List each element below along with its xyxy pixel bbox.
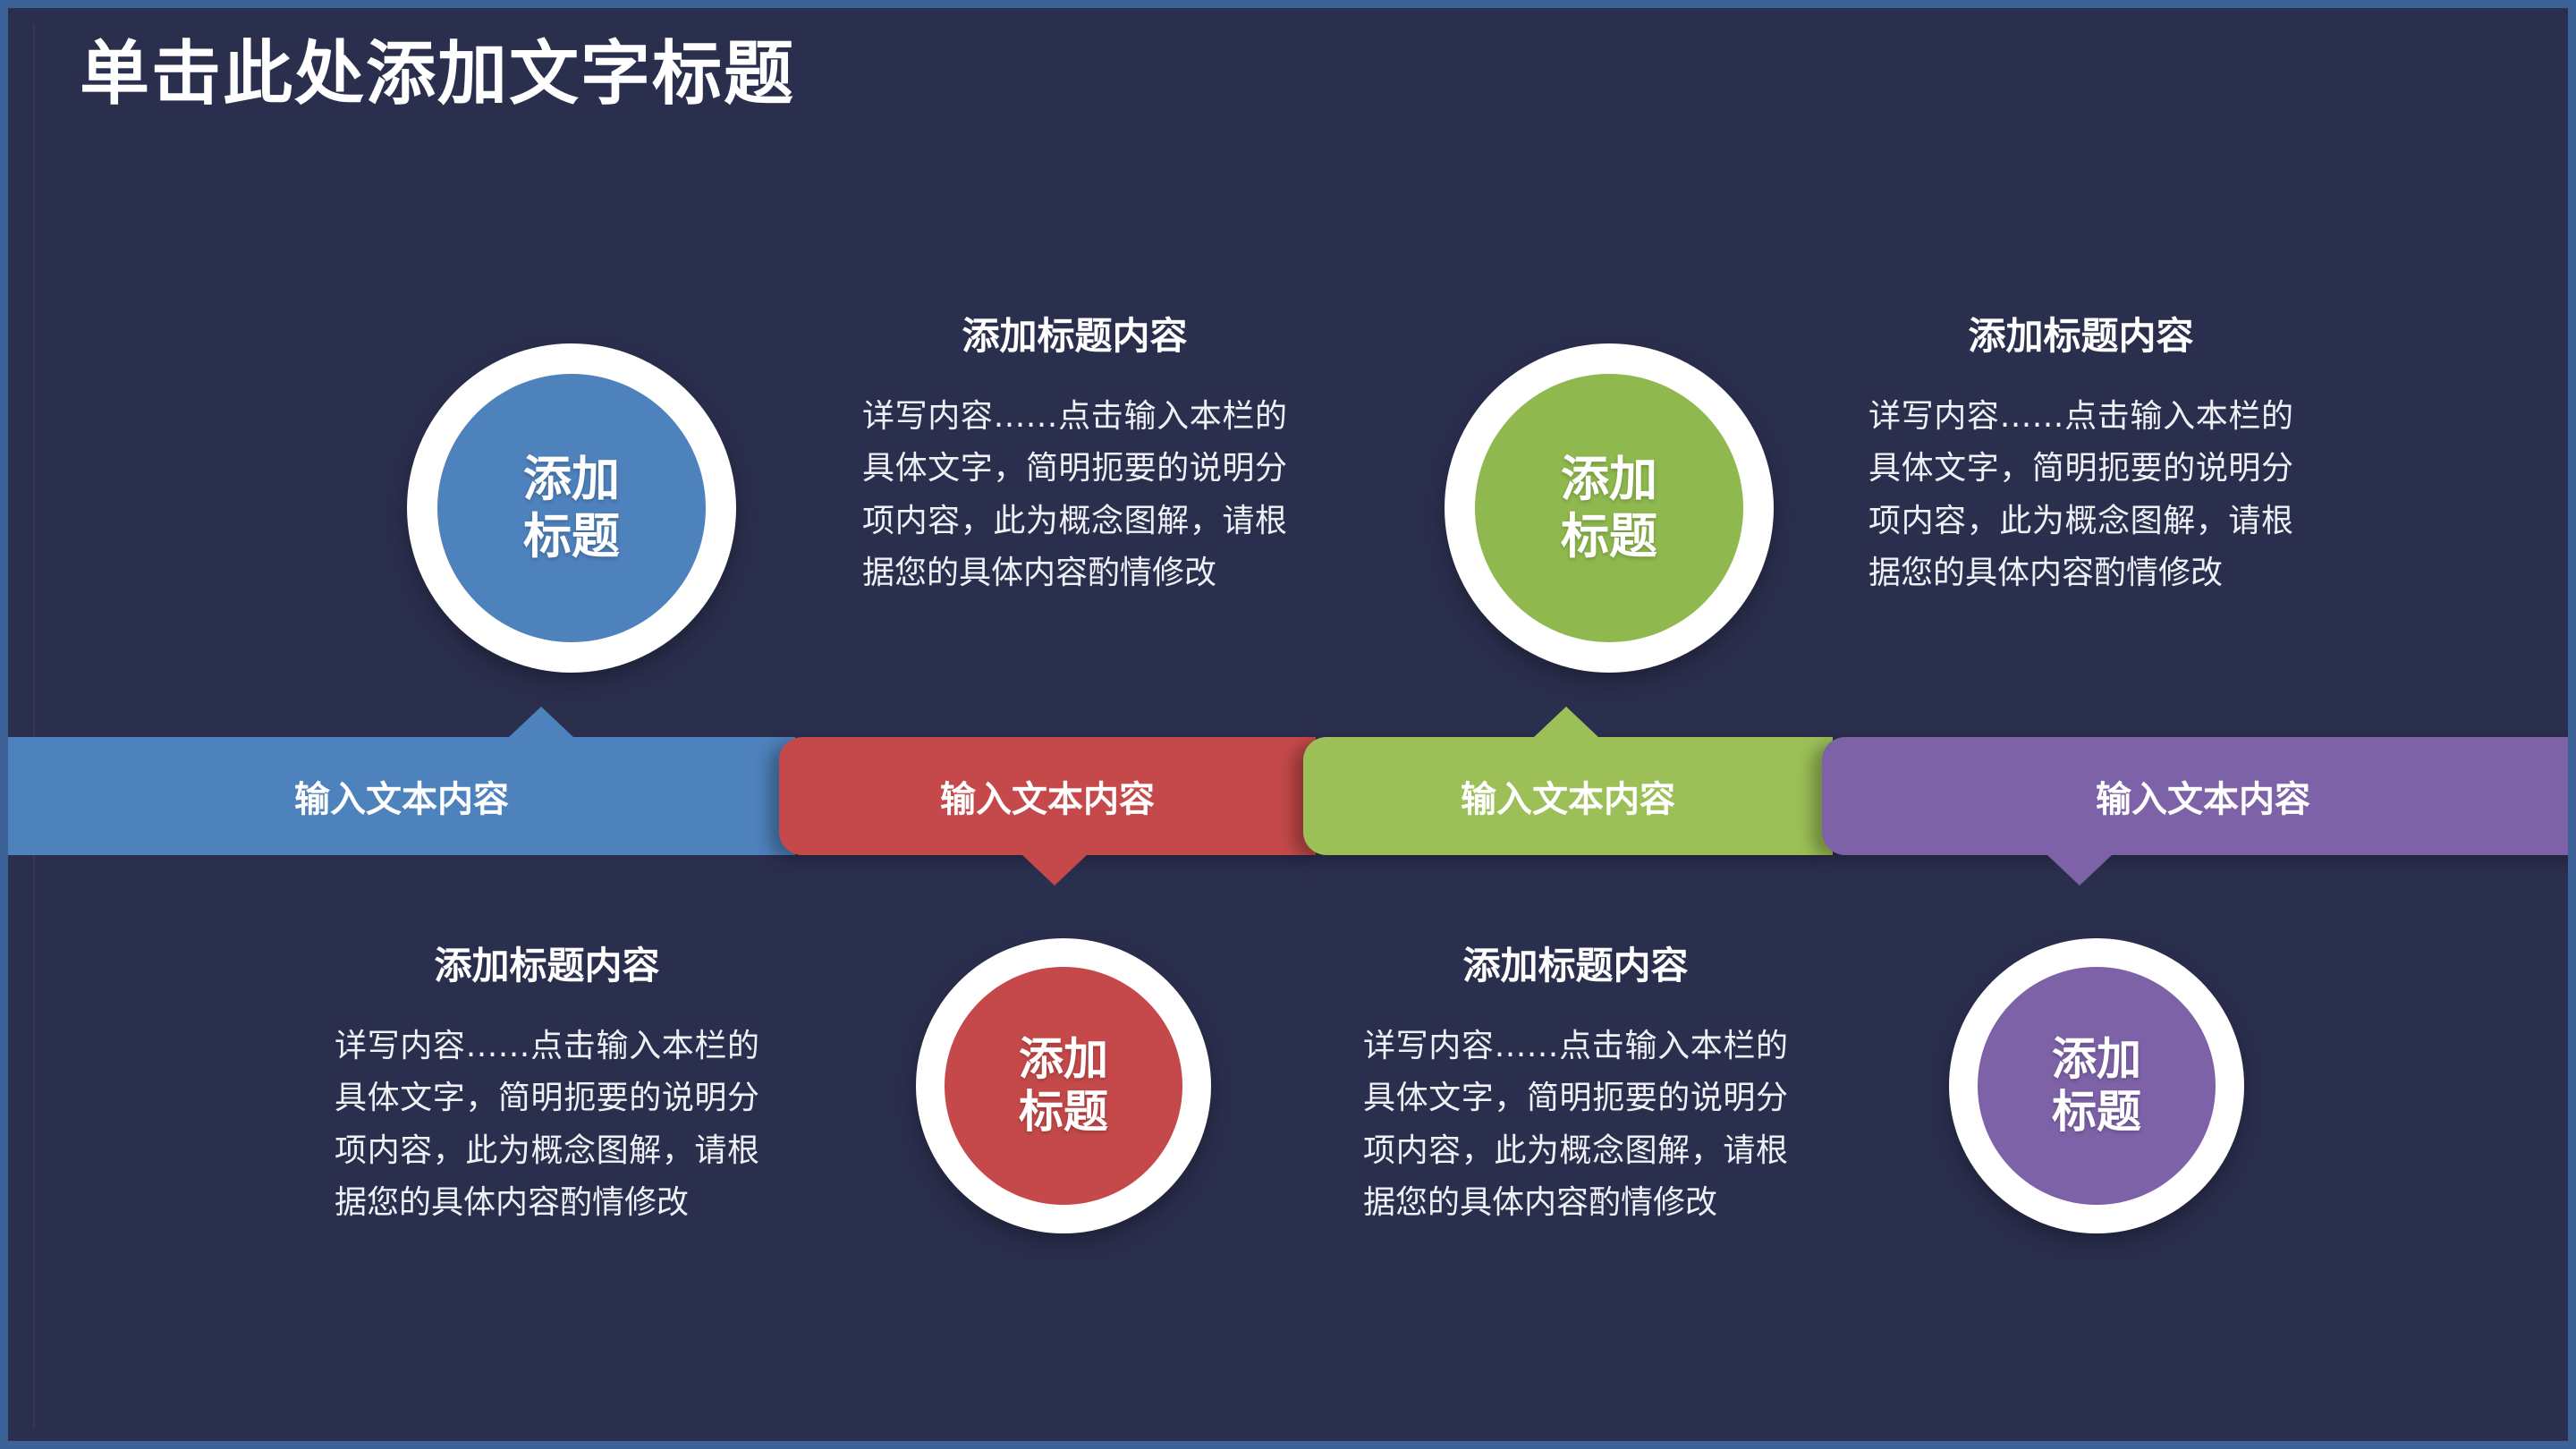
ribbon-segment-label: 输入文本内容 [940, 770, 1155, 822]
circle-badge-red[interactable]: 添加 标题 [916, 938, 1211, 1233]
pointer-down-icon [1022, 855, 1087, 885]
page-title: 单击此处添加文字标题 [80, 35, 795, 115]
circle-label-line2: 标题 [523, 508, 620, 565]
text-block-body: 详写内容……点击输入本栏的具体文字，简明扼要的说明分项内容，此为概念图解，请根据… [1868, 391, 2293, 599]
circle-label-line1: 添加 [1019, 1033, 1108, 1086]
circle-disc-red: 添加 标题 [945, 967, 1182, 1205]
ribbon-segment-purple[interactable]: 输入文本内容 [1822, 737, 2568, 855]
pointer-up-icon [509, 707, 573, 737]
slide-canvas: 单击此处添加文字标题 添加 标题 添加标题内容 详写内容……点击输入本栏的具体文… [0, 0, 2576, 1449]
pointer-down-icon [2047, 855, 2112, 885]
text-block-one: 添加标题内容 详写内容……点击输入本栏的具体文字，简明扼要的说明分项内容，此为概… [862, 306, 1287, 599]
ribbon-segment-label: 输入文本内容 [2096, 770, 2310, 822]
circle-badge-purple[interactable]: 添加 标题 [1949, 938, 2244, 1233]
ribbon-bar: 输入文本内容 输入文本内容 输入文本内容 输入文本内容 [8, 728, 2568, 871]
slide-background: 单击此处添加文字标题 添加 标题 添加标题内容 详写内容……点击输入本栏的具体文… [8, 8, 2568, 1441]
circle-badge-blue[interactable]: 添加 标题 [407, 343, 736, 673]
text-block-body: 详写内容……点击输入本栏的具体文字，简明扼要的说明分项内容，此为概念图解，请根据… [862, 391, 1287, 599]
circle-label-line1: 添加 [1561, 451, 1657, 508]
text-block-four: 添加标题内容 详写内容……点击输入本栏的具体文字，简明扼要的说明分项内容，此为概… [1363, 936, 1788, 1229]
circle-label-line2: 标题 [1019, 1086, 1108, 1139]
circle-disc-green: 添加 标题 [1475, 374, 1743, 642]
text-block-three: 添加标题内容 详写内容……点击输入本栏的具体文字，简明扼要的说明分项内容，此为概… [335, 936, 759, 1229]
circle-label-line1: 添加 [2052, 1033, 2141, 1086]
circle-disc-purple: 添加 标题 [1978, 967, 2216, 1205]
inner-guide-line [33, 24, 35, 1428]
circle-label-line2: 标题 [1561, 508, 1657, 565]
ribbon-segment-green[interactable]: 输入文本内容 [1303, 737, 1833, 855]
circle-badge-green[interactable]: 添加 标题 [1445, 343, 1774, 673]
pointer-up-icon [1534, 707, 1598, 737]
text-block-heading: 添加标题内容 [1363, 936, 1788, 990]
ribbon-segment-red[interactable]: 输入文本内容 [779, 737, 1316, 855]
text-block-body: 详写内容……点击输入本栏的具体文字，简明扼要的说明分项内容，此为概念图解，请根据… [335, 1021, 759, 1229]
text-block-heading: 添加标题内容 [1868, 306, 2293, 360]
circle-label-line2: 标题 [2052, 1086, 2141, 1139]
ribbon-segment-label: 输入文本内容 [294, 770, 509, 822]
text-block-heading: 添加标题内容 [335, 936, 759, 990]
circle-disc-blue: 添加 标题 [437, 374, 706, 642]
text-block-two: 添加标题内容 详写内容……点击输入本栏的具体文字，简明扼要的说明分项内容，此为概… [1868, 306, 2293, 599]
ribbon-segment-blue[interactable]: 输入文本内容 [8, 737, 795, 855]
text-block-heading: 添加标题内容 [862, 306, 1287, 360]
ribbon-segment-label: 输入文本内容 [1461, 770, 1675, 822]
circle-label-line1: 添加 [523, 451, 620, 508]
text-block-body: 详写内容……点击输入本栏的具体文字，简明扼要的说明分项内容，此为概念图解，请根据… [1363, 1021, 1788, 1229]
